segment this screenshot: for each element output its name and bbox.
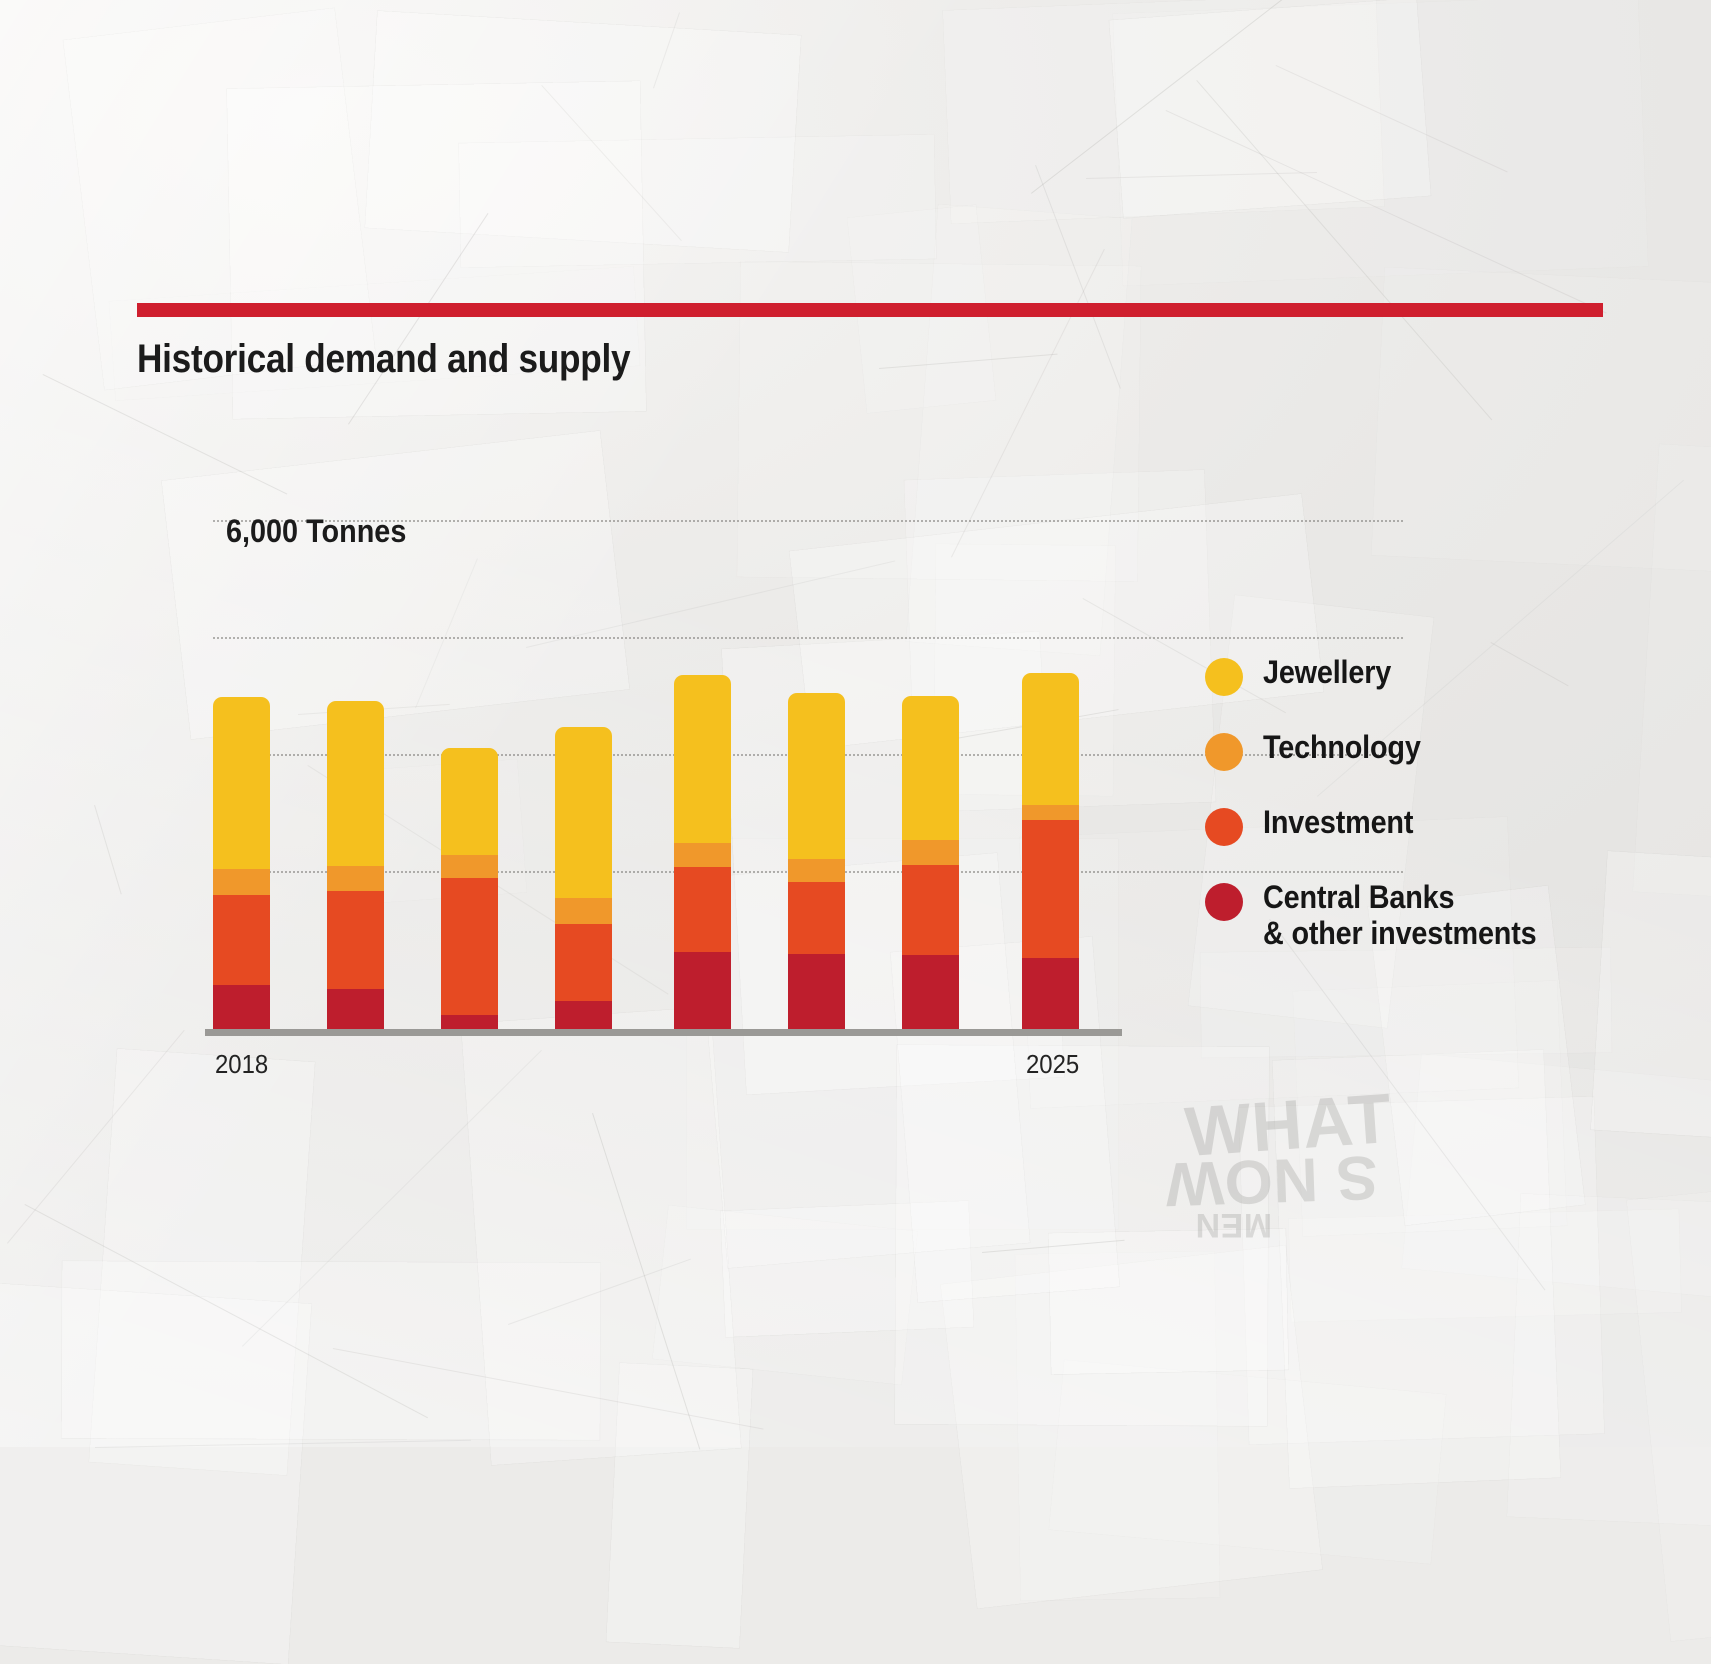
legend-label: Investment: [1263, 805, 1413, 841]
bar-segment-2022-investment: [674, 867, 731, 952]
bar-segment-2024-jewellery: [902, 696, 959, 840]
bar-segment-2024-central-banks: [902, 955, 959, 1035]
bar-segment-2025-central-banks: [1022, 958, 1079, 1035]
bar-segment-2025-jewellery: [1022, 673, 1079, 805]
bar-segment-2023-central-banks: [788, 954, 845, 1035]
bar-segment-2024-investment: [902, 865, 959, 955]
bar-segment-2019-jewellery: [327, 701, 384, 866]
legend-swatch-technology-icon: [1205, 733, 1243, 771]
chart-legend: JewelleryTechnologyInvestmentCentral Ban…: [1205, 655, 1625, 986]
legend-item-investment[interactable]: Investment: [1205, 805, 1625, 846]
bar-segment-2019-investment: [327, 891, 384, 989]
legend-swatch-jewellery-icon: [1205, 658, 1243, 696]
bar-segment-2025-investment: [1022, 820, 1079, 958]
title-rule: [137, 303, 1603, 317]
legend-swatch-investment-icon: [1205, 808, 1243, 846]
bar-2022[interactable]: [674, 675, 731, 1035]
bar-segment-2021-technology: [555, 898, 612, 924]
bar-segment-2022-technology: [674, 843, 731, 867]
page-title: Historical demand and supply: [137, 337, 630, 382]
legend-item-jewellery[interactable]: Jewellery: [1205, 655, 1625, 696]
bar-segment-2021-investment: [555, 924, 612, 1001]
bar-segment-2022-jewellery: [674, 675, 731, 843]
bar-segment-2020-jewellery: [441, 748, 498, 855]
bar-2023[interactable]: [788, 693, 845, 1035]
bar-2025[interactable]: [1022, 673, 1079, 1035]
bar-2018[interactable]: [213, 697, 270, 1035]
bar-segment-2023-technology: [788, 859, 845, 882]
legend-label: Technology: [1263, 730, 1421, 766]
bar-segment-2019-technology: [327, 866, 384, 891]
bar-segment-2021-jewellery: [555, 727, 612, 898]
x-tick-2018: 2018: [215, 1049, 268, 1080]
bar-2019[interactable]: [327, 701, 384, 1035]
bar-segment-2020-technology: [441, 855, 498, 878]
bar-2024[interactable]: [902, 696, 959, 1035]
bar-group: [213, 555, 1113, 1035]
legend-item-technology[interactable]: Technology: [1205, 730, 1625, 771]
bar-segment-2024-technology: [902, 840, 959, 865]
chart-figure: Historical demand and supply 6,000 Tonne…: [0, 0, 1711, 1447]
bar-segment-2023-investment: [788, 882, 845, 954]
bar-segment-2023-jewellery: [788, 693, 845, 859]
legend-label: Jewellery: [1263, 655, 1391, 691]
x-tick-2025: 2025: [1026, 1049, 1079, 1080]
bar-2020[interactable]: [441, 748, 498, 1035]
legend-item-central-banks[interactable]: Central Banks & other investments: [1205, 880, 1625, 952]
legend-swatch-central-banks-icon: [1205, 883, 1243, 921]
x-axis-line: [205, 1029, 1122, 1036]
bar-segment-2018-investment: [213, 895, 270, 985]
legend-label: Central Banks & other investments: [1263, 880, 1536, 952]
bar-segment-2025-technology: [1022, 805, 1079, 820]
y-axis-label: 6,000 Tonnes: [226, 513, 406, 550]
bar-2021[interactable]: [555, 727, 612, 1035]
bar-segment-2018-central-banks: [213, 985, 270, 1035]
bar-segment-2018-jewellery: [213, 697, 270, 869]
bar-segment-2020-investment: [441, 878, 498, 1015]
bar-segment-2018-technology: [213, 869, 270, 895]
bar-segment-2022-central-banks: [674, 952, 731, 1035]
